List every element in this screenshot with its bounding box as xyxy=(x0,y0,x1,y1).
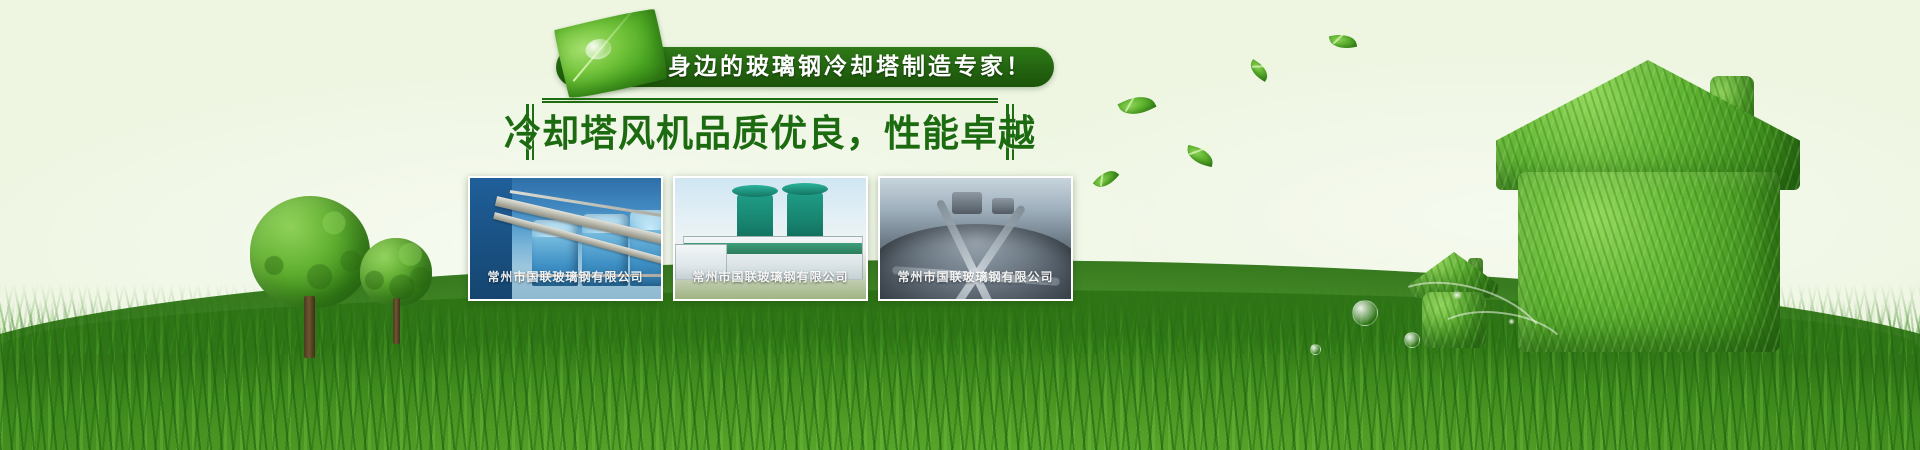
small-tree xyxy=(360,238,432,350)
tree-crown-icon xyxy=(360,238,432,306)
headline-text: 冷却塔风机品质优良，性能卓越 xyxy=(548,106,992,160)
bubble-decoration xyxy=(1310,344,1321,355)
bubble-decoration xyxy=(1352,300,1378,326)
photo-watermark: 常州市国联玻璃钢有限公司 xyxy=(675,268,866,285)
fan-deck xyxy=(878,224,1073,301)
tagline: 您身边的玻璃钢冷却塔制造专家！ xyxy=(556,44,1054,90)
fan-motor xyxy=(992,198,1014,214)
product-photo-strip: 常州市国联玻璃钢有限公司 常州市国联玻璃钢有限公司 xyxy=(468,176,1073,301)
tree-trunk xyxy=(393,298,400,344)
photo-watermark: 常州市国联玻璃钢有限公司 xyxy=(880,268,1071,285)
tree-crown-icon xyxy=(250,196,370,308)
promotional-banner: 您身边的玻璃钢冷却塔制造专家！ 冷却塔风机品质优良，性能卓越 常州市国联玻璃钢有… xyxy=(0,0,1920,450)
house-roof xyxy=(1496,60,1800,190)
large-tree xyxy=(250,196,370,356)
photo-watermark: 常州市国联玻璃钢有限公司 xyxy=(470,268,661,285)
tagline-pill: 您身边的玻璃钢冷却塔制造专家！ xyxy=(556,47,1054,87)
large-grass-house xyxy=(1488,60,1808,350)
product-photo-2[interactable]: 常州市国联玻璃钢有限公司 xyxy=(673,176,868,301)
fan-motor xyxy=(952,192,982,214)
tagline-text: 您身边的玻璃钢冷却塔制造专家！ xyxy=(642,56,1032,79)
house-body xyxy=(1518,172,1780,352)
headline-top-rule xyxy=(542,98,998,103)
headline: 冷却塔风机品质优良，性能卓越 xyxy=(520,98,1020,164)
tree-trunk xyxy=(304,296,315,358)
product-photo-1[interactable]: 常州市国联玻璃钢有限公司 xyxy=(468,176,663,301)
product-photo-3[interactable]: 常州市国联玻璃钢有限公司 xyxy=(878,176,1073,301)
